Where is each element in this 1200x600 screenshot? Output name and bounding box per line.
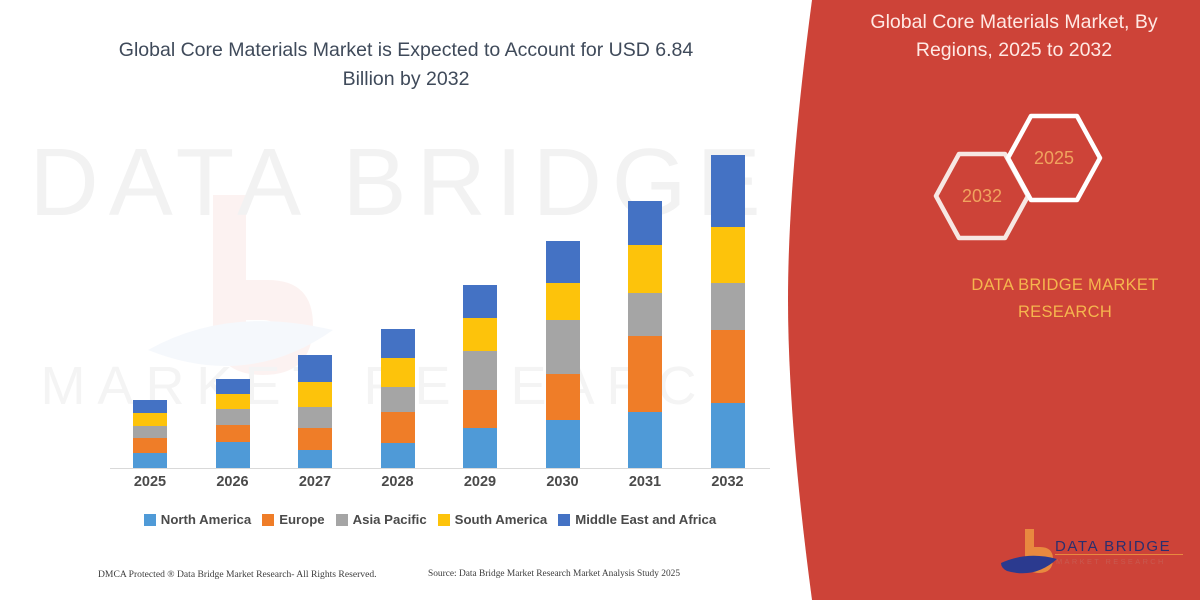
bar-segment-middle-east-and-africa <box>381 329 415 358</box>
bar-segment-middle-east-and-africa <box>546 241 580 283</box>
infographic-canvas: DATA BRIDGE MARKET RESEARCH Global Core … <box>0 0 1200 600</box>
bar-segment-europe <box>216 425 250 442</box>
bar-segment-south-america <box>216 394 250 409</box>
bar-segment-south-america <box>463 318 497 351</box>
panel-title: Global Core Materials Market, By Regions… <box>838 8 1190 65</box>
footer-source: Source: Data Bridge Market Research Mark… <box>428 569 680 579</box>
legend-label: North America <box>161 512 251 527</box>
legend-swatch-icon <box>336 514 348 526</box>
x-axis-line <box>110 468 770 469</box>
stacked-bar[interactable] <box>546 241 580 468</box>
brand-name: DATA BRIDGE MARKET RESEARCH <box>930 272 1200 326</box>
bar-segment-north-america <box>216 442 250 468</box>
bar-segment-europe <box>133 438 167 453</box>
x-axis-tick-2032: 2032 <box>688 474 768 490</box>
bar-segment-asia-pacific <box>133 426 167 438</box>
bar-segment-europe <box>711 330 745 403</box>
bar-segment-north-america <box>711 403 745 468</box>
bar-segment-north-america <box>546 420 580 468</box>
logo-underline <box>1055 554 1183 555</box>
logo-subtext: MARKET RESEARCH <box>1056 557 1166 566</box>
bar-chart: 20252026202720282029203020312032 <box>110 140 770 470</box>
bar-segment-south-america <box>133 413 167 426</box>
legend-swatch-icon <box>144 514 156 526</box>
stacked-bar[interactable] <box>216 379 250 468</box>
stacked-bar[interactable] <box>463 285 497 468</box>
legend-swatch-icon <box>558 514 570 526</box>
bar-segment-north-america <box>463 428 497 468</box>
bar-segment-south-america <box>628 245 662 293</box>
bar-group-2025 <box>110 140 190 468</box>
x-axis-tick-2027: 2027 <box>275 474 355 490</box>
bar-group-2032 <box>688 140 768 468</box>
bar-segment-middle-east-and-africa <box>298 355 332 382</box>
bar-segment-europe <box>628 336 662 412</box>
bar-segment-middle-east-and-africa <box>216 379 250 394</box>
bar-segment-south-america <box>298 382 332 407</box>
bar-segment-north-america <box>133 453 167 468</box>
bar-segment-north-america <box>298 450 332 468</box>
chart-legend: North AmericaEuropeAsia PacificSouth Ame… <box>100 512 760 527</box>
bar-segment-south-america <box>546 283 580 320</box>
bar-segment-europe <box>298 428 332 450</box>
stacked-bar[interactable] <box>298 355 332 468</box>
bar-group-2031 <box>605 140 685 468</box>
footer-copyright: DMCA Protected ® Data Bridge Market Rese… <box>98 569 377 580</box>
legend-label: Europe <box>279 512 324 527</box>
bar-segment-europe <box>463 390 497 428</box>
bar-segment-north-america <box>628 412 662 468</box>
bar-segment-asia-pacific <box>216 409 250 425</box>
bar-segment-asia-pacific <box>381 387 415 412</box>
bar-group-2029 <box>440 140 520 468</box>
legend-item-middle-east-and-africa[interactable]: Middle East and Africa <box>558 512 716 527</box>
legend-swatch-icon <box>262 514 274 526</box>
bar-segment-europe <box>381 412 415 443</box>
bar-segment-south-america <box>381 358 415 387</box>
x-axis-tick-2030: 2030 <box>523 474 603 490</box>
legend-label: Middle East and Africa <box>575 512 716 527</box>
bar-segment-asia-pacific <box>463 351 497 390</box>
bar-segment-asia-pacific <box>298 407 332 428</box>
bar-segment-middle-east-and-africa <box>133 400 167 413</box>
x-axis-tick-2031: 2031 <box>605 474 685 490</box>
bar-group-2026 <box>193 140 273 468</box>
hexagon-2025-label: 2025 <box>1004 108 1104 208</box>
bar-group-2030 <box>523 140 603 468</box>
bar-group-2028 <box>358 140 438 468</box>
bar-group-2027 <box>275 140 355 468</box>
stacked-bar[interactable] <box>711 155 745 468</box>
legend-item-south-america[interactable]: South America <box>438 512 548 527</box>
legend-label: Asia Pacific <box>353 512 427 527</box>
x-axis-tick-2026: 2026 <box>193 474 273 490</box>
bar-segment-asia-pacific <box>711 283 745 330</box>
legend-item-europe[interactable]: Europe <box>262 512 324 527</box>
bar-segment-south-america <box>711 227 745 283</box>
legend-label: South America <box>455 512 548 527</box>
legend-item-north-america[interactable]: North America <box>144 512 251 527</box>
stacked-bar[interactable] <box>381 329 415 468</box>
page-title: Global Core Materials Market is Expected… <box>96 36 716 95</box>
hexagon-2025: 2025 <box>1004 108 1104 208</box>
plot-area <box>110 140 770 468</box>
stacked-bar[interactable] <box>628 201 662 468</box>
x-axis-tick-2028: 2028 <box>358 474 438 490</box>
bar-segment-europe <box>546 374 580 420</box>
legend-swatch-icon <box>438 514 450 526</box>
stacked-bar[interactable] <box>133 400 167 468</box>
x-axis-tick-2029: 2029 <box>440 474 520 490</box>
x-axis-tick-2025: 2025 <box>110 474 190 490</box>
logo-wordmark: DATA BRIDGE <box>1055 538 1171 555</box>
legend-item-asia-pacific[interactable]: Asia Pacific <box>336 512 427 527</box>
bar-segment-asia-pacific <box>628 293 662 336</box>
bar-segment-middle-east-and-africa <box>711 155 745 227</box>
bar-segment-middle-east-and-africa <box>628 201 662 245</box>
x-axis-labels: 20252026202720282029203020312032 <box>110 474 770 500</box>
bar-segment-north-america <box>381 443 415 468</box>
bar-segment-asia-pacific <box>546 320 580 374</box>
bar-segment-middle-east-and-africa <box>463 285 497 318</box>
